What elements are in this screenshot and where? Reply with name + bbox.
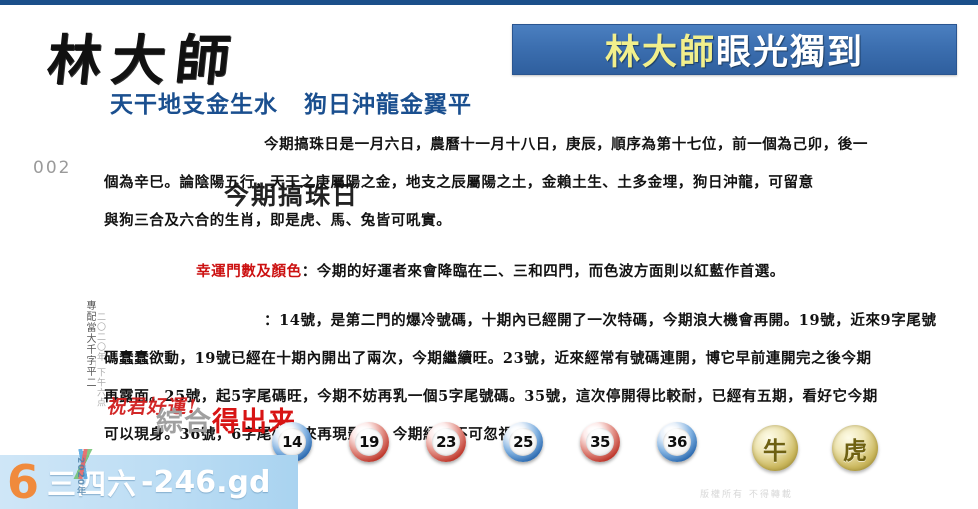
zodiac-label: 虎 bbox=[843, 431, 867, 466]
site-logo-digit: 6 bbox=[7, 459, 39, 505]
headline-banner: 林大師眼光獨到 bbox=[512, 24, 957, 75]
lottery-ball[interactable]: 36 bbox=[657, 422, 697, 462]
p2-text: ：今期的好運者來會降臨在二、三和四門，而色波方面則以紅藍作首選。 bbox=[302, 263, 785, 280]
paragraph-1-line-1: 今期搞珠日是一月六日，農曆十一月十八日，庚辰，順序為第十七位，前一個為己卯，後一 bbox=[104, 126, 964, 164]
zodiac-medallion[interactable]: 虎 bbox=[832, 425, 878, 471]
banner-text: 林大師眼光獨到 bbox=[605, 24, 864, 75]
site-name-cn: 三四六 bbox=[47, 461, 137, 503]
ball-number: 25 bbox=[513, 435, 533, 450]
lottery-ball[interactable]: 23 bbox=[426, 422, 466, 462]
site-domain: -246.gd bbox=[141, 465, 270, 500]
paragraph-3-line-1: ：14號，是第二門的爆冷號碼，十期內已經開了一次特碼，今期浪大機會再開。19號，… bbox=[104, 302, 964, 340]
ball-disc: 19 bbox=[355, 428, 383, 456]
subtitle-left: 天干地支金生水 bbox=[110, 92, 278, 118]
masthead-title: 林大師 bbox=[44, 16, 244, 95]
zodiac-medallion[interactable]: 牛 bbox=[752, 425, 798, 471]
lucky-gate-label: 幸運門數及顏色 bbox=[196, 263, 302, 280]
site-watermark-bar: 6 2020年 三四六 -246.gd bbox=[0, 455, 298, 509]
p1l1-text: 今期搞珠日是一月六日，農曆十一月十八日，庚辰，順序為第十七位，前一個為己卯，後一 bbox=[264, 136, 868, 153]
ball-number: 23 bbox=[436, 435, 456, 450]
ball-number: 35 bbox=[590, 435, 610, 450]
watermark-top: 今期搞珠日 bbox=[224, 176, 359, 212]
zodiac-picks: 牛 虎 bbox=[752, 425, 878, 471]
recommended-numbers: 14 19 23 25 35 36 bbox=[272, 422, 697, 462]
paragraph-2: 幸運門數及顏色：今期的好運者來會降臨在二、三和四門，而色波方面則以紅藍作首選。 bbox=[104, 253, 964, 291]
banner-slogan: 眼光獨到 bbox=[716, 33, 864, 73]
footer-copyright: 版權所有 不得轉載 bbox=[700, 487, 793, 500]
subtitle-right: 狗日沖龍金翼平 bbox=[304, 92, 472, 118]
lottery-ball[interactable]: 19 bbox=[349, 422, 389, 462]
banner-brand: 林大師 bbox=[605, 33, 716, 73]
p3l1-text: ：14號，是第二門的爆冷號碼，十期內已經開了一次特碼，今期浪大機會再開。19號，… bbox=[264, 312, 937, 329]
site-year-vertical: 2020年 bbox=[74, 457, 87, 496]
ball-disc: 23 bbox=[432, 428, 460, 456]
magazine-page: 林大師 天干地支金生水狗日沖龍金翼平 林大師眼光獨到 002 專配當大千字平二 … bbox=[0, 0, 978, 509]
watermark-bottom-gray: 綜合 bbox=[156, 407, 212, 438]
ball-disc: 36 bbox=[663, 428, 691, 456]
ball-number: 19 bbox=[359, 435, 379, 450]
ball-disc: 35 bbox=[586, 428, 614, 456]
page-subtitle: 天干地支金生水狗日沖龍金翼平 bbox=[110, 85, 472, 119]
top-rule bbox=[0, 0, 978, 5]
ball-disc: 14 bbox=[278, 428, 306, 456]
paragraph-3-line-2: 碼蠢蠢欲動，19號已經在十期內開出了兩次，今期繼續旺。23號，近來經常有號碼連開… bbox=[104, 340, 964, 378]
lottery-ball[interactable]: 25 bbox=[503, 422, 543, 462]
page-number: 002 bbox=[33, 158, 71, 178]
ball-disc: 25 bbox=[509, 428, 537, 456]
ball-number: 14 bbox=[282, 435, 302, 450]
ball-number: 36 bbox=[667, 435, 687, 450]
zodiac-label: 牛 bbox=[763, 431, 787, 466]
lottery-ball[interactable]: 35 bbox=[580, 422, 620, 462]
